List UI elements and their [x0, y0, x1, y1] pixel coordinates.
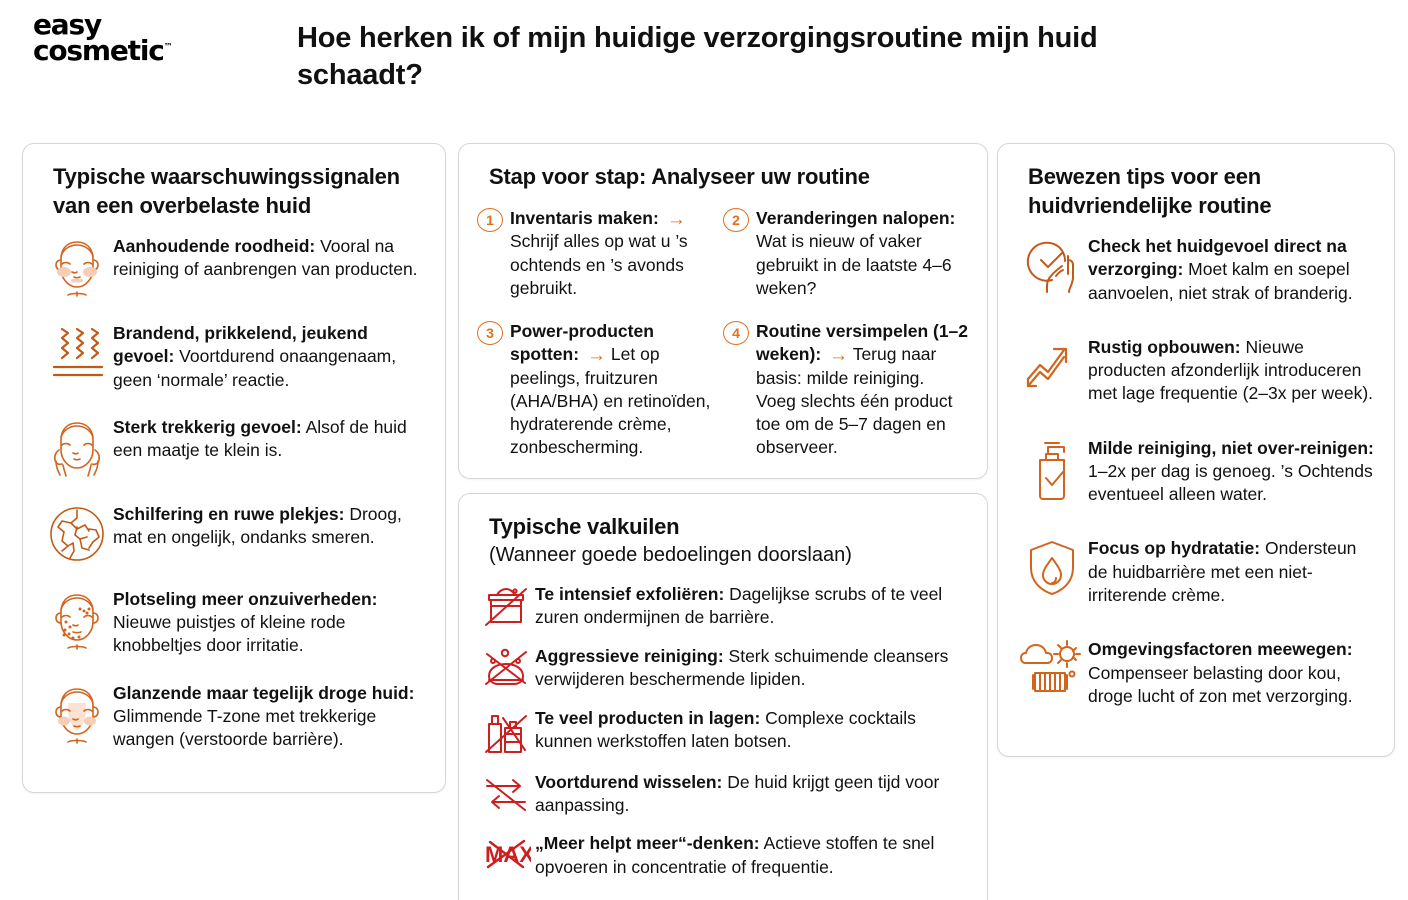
step-bold: Veranderingen nalopen: — [756, 208, 955, 228]
weather-radiator-icon — [1016, 637, 1088, 697]
list-item-bold: Milde reiniging, niet over-reinigen: — [1088, 438, 1374, 458]
list-item: Aggressieve reiniging: Sterk schuimende … — [477, 644, 969, 692]
list-item: Te intensief exfoliëren: Dagelijkse scru… — [477, 582, 969, 630]
list-item-text: Check het huidgevoel direct na verzorgin… — [1088, 234, 1376, 305]
list-item: Focus op hydratatie: Ondersteun de huidb… — [1016, 536, 1376, 607]
hand-check-icon — [1016, 234, 1088, 294]
step-body: Inventaris maken:→ Schrijf alles op wat … — [510, 207, 723, 300]
card-step-by-step-title: Stap voor stap: Analyseer uw routine — [489, 162, 969, 191]
list-item-bold: Omgevingsfactoren meewegen: — [1088, 639, 1353, 659]
card-proven-tips: Bewezen tips voor een huidvriendelijke r… — [997, 143, 1395, 757]
step-number-badge: 1 — [477, 208, 503, 232]
list-item-text: Te intensief exfoliëren: Dagelijkse scru… — [535, 582, 969, 630]
list-item-text: Rustig opbouwen: Nieuwe producten afzond… — [1088, 335, 1376, 406]
brand-line-2: cosmetic™ — [33, 38, 173, 64]
step-text: Schrijf alles op wat u ’s ochtends en ’s… — [510, 231, 688, 298]
card-pitfalls-title: Typische valkuilen — [489, 512, 969, 541]
list-item: Milde reiniging, niet over-reinigen: 1–2… — [1016, 436, 1376, 507]
list-item-text: Te veel producten in lagen: Complexe coc… — [535, 706, 969, 754]
list-item-bold: Sterk trekkerig gevoel: — [113, 417, 302, 437]
list-item: Check het huidgevoel direct na verzorgin… — [1016, 234, 1376, 305]
list-item-text: Aanhoudende roodheid: Vooral na reinigin… — [113, 234, 427, 282]
no-max-dosage-icon: MAX — [477, 831, 535, 873]
list-item-text: Brandend, prikkelend, jeukend gevoel: Vo… — [113, 321, 427, 392]
list-item-text: „Meer helpt meer“-denken: Actieve stoffe… — [535, 831, 969, 879]
step-item: 2 Veranderingen nalopen: Wat is nieuw of… — [723, 207, 969, 300]
list-item-bold: Focus op hydratatie: — [1088, 538, 1260, 558]
growth-arrow-icon — [1016, 335, 1088, 387]
step-body: Veranderingen nalopen: Wat is nieuw of v… — [756, 207, 969, 300]
pitfall-list: Te intensief exfoliëren: Dagelijkse scru… — [477, 582, 969, 879]
page-title: Hoe herken ik of mijn huidige verzorging… — [297, 20, 1227, 94]
list-item: Schilfering en ruwe plekjes: Droog, mat … — [41, 502, 427, 564]
no-product-layering-icon — [477, 706, 535, 756]
list-item: Sterk trekkerig gevoel: Alsof de huid ee… — [41, 415, 427, 479]
list-item-text: Omgevingsfactoren meewegen: Compenseer b… — [1088, 637, 1376, 708]
list-item: Te veel producten in lagen: Complexe coc… — [477, 706, 969, 756]
list-item: Rustig opbouwen: Nieuwe producten afzond… — [1016, 335, 1376, 406]
step-item: 1 Inventaris maken:→ Schrijf alles op wa… — [477, 207, 723, 300]
shield-droplet-icon — [1016, 536, 1088, 598]
list-item-text: Plotseling meer onzuiverheden: Nieuwe pu… — [113, 587, 427, 658]
column-steps-pitfalls: Stap voor stap: Analyseer uw routine 1 I… — [458, 143, 988, 900]
step-number-badge: 2 — [723, 208, 749, 232]
list-item-bold: Schilfering en ruwe plekjes: — [113, 504, 344, 524]
brand-logo: easy cosmetic™ — [33, 12, 173, 64]
face-tightness-icon — [41, 415, 113, 479]
list-item-text: Aggressieve reiniging: Sterk schuimende … — [535, 644, 969, 692]
list-item: Brandend, prikkelend, jeukend gevoel: Vo… — [41, 321, 427, 392]
card-pitfalls-subtitle: (Wanneer goede bedoelingen doorslaan) — [489, 542, 969, 568]
face-blemishes-icon — [41, 587, 113, 651]
card-proven-tips-title: Bewezen tips voor een huidvriendelijke r… — [1028, 162, 1376, 220]
burning-heat-waves-icon — [41, 321, 113, 381]
list-item-bold: Glanzende maar tegelijk droge huid: — [113, 683, 414, 703]
step-bold: Inventaris maken: — [510, 208, 659, 228]
step-number-badge: 4 — [723, 321, 749, 345]
step-text: Wat is nieuw of vaker gebruikt in de laa… — [756, 231, 952, 298]
list-item: Plotseling meer onzuiverheden: Nieuwe pu… — [41, 587, 427, 658]
step-body: Power-producten spotten:→ Let op peeling… — [510, 320, 723, 460]
step-body: Routine versimpelen (1–2 weken):→ Terug … — [756, 320, 969, 460]
tips-list: Check het huidgevoel direct na verzorgin… — [1016, 234, 1376, 708]
arrow-right-icon: → — [587, 346, 606, 365]
cracked-skin-icon — [41, 502, 113, 564]
list-item: Omgevingsfactoren meewegen: Compenseer b… — [1016, 637, 1376, 708]
step-item: 3 Power-producten spotten:→ Let op peeli… — [477, 320, 723, 460]
face-redness-icon — [41, 234, 113, 298]
list-item-text: Schilfering en ruwe plekjes: Droog, mat … — [113, 502, 427, 550]
card-warning-signals: Typische waarschuwingssignalen van een o… — [22, 143, 446, 793]
list-item-bold: Plotseling meer onzuiverheden: — [113, 589, 378, 609]
list-item-bold: Rustig opbouwen: — [1088, 337, 1241, 357]
step-item: 4 Routine versimpelen (1–2 weken):→ Teru… — [723, 320, 969, 460]
arrow-right-icon: → — [667, 210, 686, 229]
no-scrub-jar-icon — [477, 582, 535, 630]
list-item-body: Glimmende T-zone met trekkerige wangen (… — [113, 706, 376, 749]
no-foaming-cleanser-icon — [477, 644, 535, 692]
list-item-bold: Te intensief exfoliëren: — [535, 584, 724, 604]
list-item-text: Milde reiniging, niet over-reinigen: 1–2… — [1088, 436, 1376, 507]
card-warning-signals-title: Typische waarschuwingssignalen van een o… — [53, 162, 427, 220]
step-number-badge: 3 — [477, 321, 503, 345]
steps-grid: 1 Inventaris maken:→ Schrijf alles op wa… — [477, 207, 969, 460]
list-item-text: Sterk trekkerig gevoel: Alsof de huid ee… — [113, 415, 427, 463]
list-item-bold: Aanhoudende roodheid: — [113, 236, 315, 256]
list-item-bold: Aggressieve reiniging: — [535, 646, 724, 666]
trademark-symbol: ™ — [164, 42, 173, 52]
column-tips: Bewezen tips voor een huidvriendelijke r… — [997, 143, 1395, 757]
face-oily-dry-icon — [41, 681, 113, 745]
list-item-body: Nieuwe puistjes of kleine rode knobbeltj… — [113, 612, 346, 655]
list-item-bold: „Meer helpt meer“-denken: — [535, 833, 760, 853]
page-header: easy cosmetic™ Hoe herken ik of mijn hui… — [0, 0, 1408, 130]
pump-bottle-check-icon — [1016, 436, 1088, 500]
list-item: Aanhoudende roodheid: Vooral na reinigin… — [41, 234, 427, 298]
list-item: Voortdurend wisselen: De huid krijgt gee… — [477, 770, 969, 818]
list-item-bold: Te veel producten in lagen: — [535, 708, 760, 728]
list-item-text: Glanzende maar tegelijk droge huid: Glim… — [113, 681, 427, 752]
no-swapping-arrows-icon — [477, 770, 535, 816]
list-item-body: Compenseer belasting door kou, droge luc… — [1088, 663, 1353, 706]
list-item: MAX „Meer helpt meer“-denken: Actieve st… — [477, 831, 969, 879]
list-item: Glanzende maar tegelijk droge huid: Glim… — [41, 681, 427, 752]
list-item-bold: Voortdurend wisselen: — [535, 772, 722, 792]
column-warnings: Typische waarschuwingssignalen van een o… — [22, 143, 446, 793]
list-item-text: Focus op hydratatie: Ondersteun de huidb… — [1088, 536, 1376, 607]
warning-signal-list: Aanhoudende roodheid: Vooral na reinigin… — [41, 234, 427, 751]
list-item-body: 1–2x per dag is genoeg. ’s Ochtends even… — [1088, 461, 1373, 504]
infographic-page: easy cosmetic™ Hoe herken ik of mijn hui… — [0, 0, 1408, 900]
card-step-by-step: Stap voor stap: Analyseer uw routine 1 I… — [458, 143, 988, 479]
list-item-text: Voortdurend wisselen: De huid krijgt gee… — [535, 770, 969, 818]
arrow-right-icon: → — [829, 346, 848, 365]
card-pitfalls: Typische valkuilen (Wanneer goede bedoel… — [458, 493, 988, 900]
